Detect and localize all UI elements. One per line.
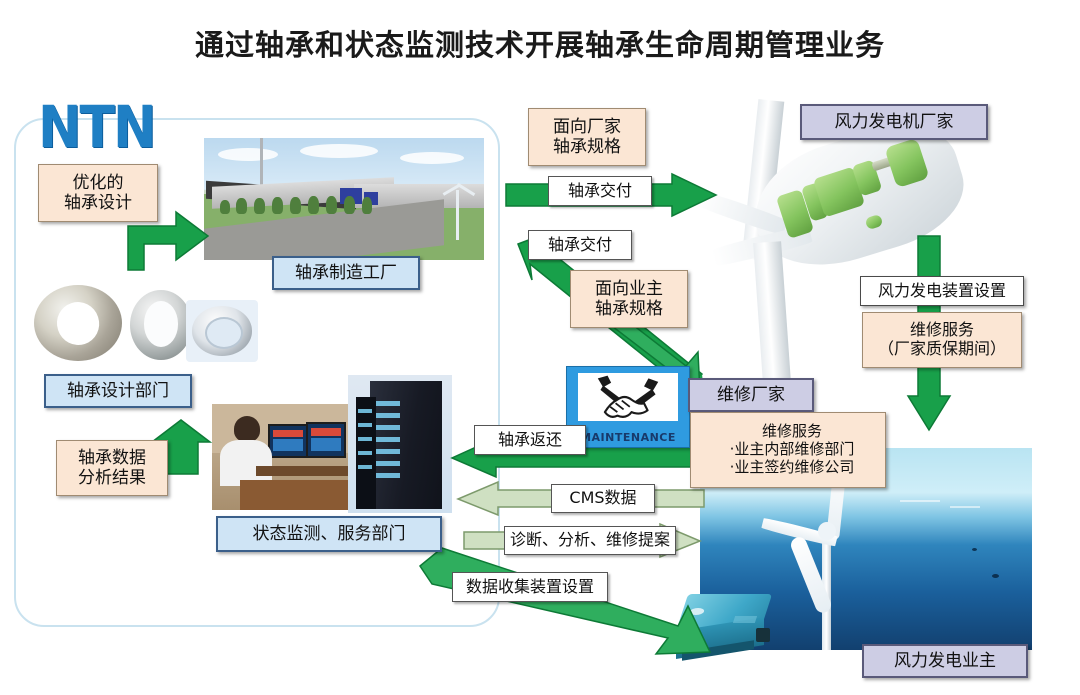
diagnosis-proposal-box[interactable]: 诊断、分析、维修提案 — [504, 526, 676, 555]
spec-for-owner-box[interactable]: 面向业主 轴承规格 — [570, 270, 688, 328]
cms-data-label: CMS数据 — [569, 489, 636, 508]
arrow-data-collector-setup — [420, 548, 712, 658]
turbine-maker-box[interactable]: 风力发电机厂家 — [800, 104, 988, 140]
bearing-design-dept-box[interactable]: 轴承设计部门 — [44, 374, 192, 408]
wind-power-owner-box[interactable]: 风力发电业主 — [862, 644, 1028, 678]
data-collector-setup-label: 数据收集装置设置 — [466, 578, 594, 597]
bearing-delivery-mid-box[interactable]: 轴承交付 — [528, 230, 632, 260]
data-collector-setup-box[interactable]: 数据收集装置设置 — [452, 572, 608, 602]
bearing-design-dept-label: 轴承设计部门 — [67, 381, 169, 401]
bearing-delivery-mid-label: 轴承交付 — [548, 236, 612, 255]
diagram-canvas: 通过轴承和状态监测技术开展轴承生命周期管理业务 NTN — [0, 0, 1080, 695]
maintenance-service-detail-box[interactable]: 维修服务 ·业主内部维修部门 ·业主签约维修公司 — [690, 412, 886, 488]
turbine-maker-label: 风力发电机厂家 — [835, 112, 954, 132]
maintenance-vendor-box[interactable]: 维修厂家 — [688, 378, 814, 412]
bearing-return-label: 轴承返还 — [498, 431, 562, 450]
bearing-data-analysis-box[interactable]: 轴承数据 分析结果 — [56, 440, 168, 496]
ntn-logo: NTN — [38, 94, 155, 161]
monitoring-service-dept-box[interactable]: 状态监测、服务部门 — [216, 516, 442, 552]
spec-for-maker-label: 面向厂家 轴承规格 — [553, 117, 621, 157]
bearing-factory-label: 轴承制造工厂 — [295, 263, 397, 283]
maintenance-vendor-label: 维修厂家 — [717, 385, 785, 405]
bearing-return-box[interactable]: 轴承返还 — [474, 425, 586, 455]
bearing-data-analysis-label: 轴承数据 分析结果 — [78, 448, 146, 488]
cms-data-box[interactable]: CMS数据 — [551, 484, 655, 513]
optimized-design-label: 优化的 轴承设计 — [64, 173, 132, 213]
bearing-delivery-top-label: 轴承交付 — [568, 182, 632, 201]
page-title: 通过轴承和状态监测技术开展轴承生命周期管理业务 — [0, 22, 1080, 64]
monitoring-workstation-photo — [212, 404, 352, 510]
spec-for-maker-box[interactable]: 面向厂家 轴承规格 — [528, 108, 646, 166]
maintenance-warranty-box[interactable]: 维修服务 （厂家质保期间） — [862, 312, 1022, 368]
wind-power-owner-label: 风力发电业主 — [894, 651, 996, 671]
server-rack-photo — [348, 375, 452, 513]
optimized-design-box[interactable]: 优化的 轴承设计 — [38, 164, 158, 222]
turbine-installation-label: 风力发电装置设置 — [878, 282, 1006, 301]
maintenance-warranty-label: 维修服务 （厂家质保期间） — [878, 321, 1006, 359]
bearing-image-roller — [34, 285, 122, 361]
spec-for-owner-label: 面向业主 轴承规格 — [595, 279, 663, 319]
bearing-factory-photo — [204, 138, 484, 260]
diagnosis-proposal-label: 诊断、分析、维修提案 — [510, 531, 670, 550]
bearing-factory-label-box[interactable]: 轴承制造工厂 — [272, 256, 420, 290]
turbine-installation-box[interactable]: 风力发电装置设置 — [860, 276, 1024, 306]
handshake-tools-icon — [578, 373, 678, 421]
bearing-image-ball — [186, 300, 258, 362]
maintenance-service-detail-label: 维修服务 ·业主内部维修部门 ·业主签约维修公司 — [699, 423, 885, 476]
monitoring-service-dept-label: 状态监测、服务部门 — [253, 524, 406, 544]
bearing-delivery-top-box[interactable]: 轴承交付 — [548, 176, 652, 206]
bearing-image-ring — [130, 290, 192, 360]
